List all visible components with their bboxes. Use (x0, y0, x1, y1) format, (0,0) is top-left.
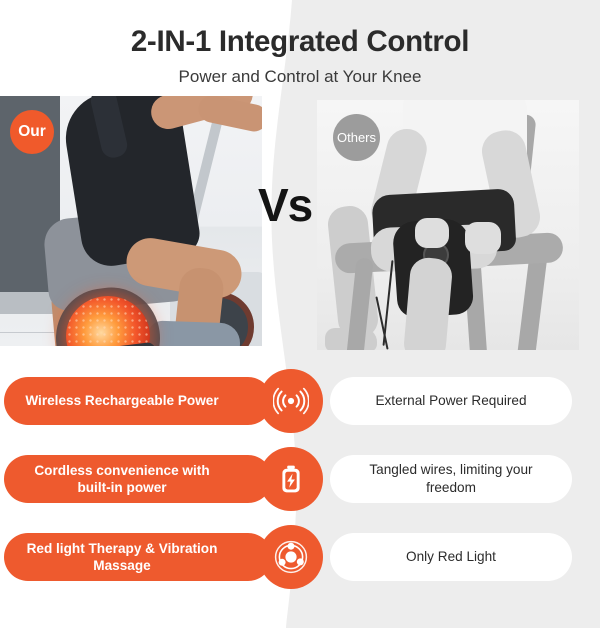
page-subtitle: Power and Control at Your Knee (0, 58, 600, 87)
comparison-rows: Wireless Rechargeable Power External Pow… (0, 369, 600, 603)
battery-charging-icon (259, 447, 323, 511)
infographic-page: 2-IN-1 Integrated Control Power and Cont… (0, 0, 600, 628)
others-badge: Others (333, 114, 380, 161)
our-feature-label: Wireless Rechargeable Power (4, 377, 272, 425)
our-feature-label: Red light Therapy & Vibration Massage (4, 533, 272, 581)
competitor-feature-label: Tangled wires, limiting your freedom (330, 455, 572, 503)
competitor-feature-label: External Power Required (330, 377, 572, 425)
comparison-row: Wireless Rechargeable Power External Pow… (0, 369, 600, 447)
comparison-row: Cordless convenience with built-in power… (0, 447, 600, 525)
comparison-row: Red light Therapy & Vibration Massage On… (0, 525, 600, 603)
our-badge: Our (10, 110, 54, 154)
competitor-feature-label: Only Red Light (330, 533, 572, 581)
wireless-signal-icon (259, 369, 323, 433)
our-feature-label: Cordless convenience with built-in power (4, 455, 272, 503)
vs-label: Vs (258, 182, 312, 228)
vibration-massage-icon (259, 525, 323, 589)
header: 2-IN-1 Integrated Control Power and Cont… (0, 0, 600, 88)
page-title: 2-IN-1 Integrated Control (0, 0, 600, 58)
